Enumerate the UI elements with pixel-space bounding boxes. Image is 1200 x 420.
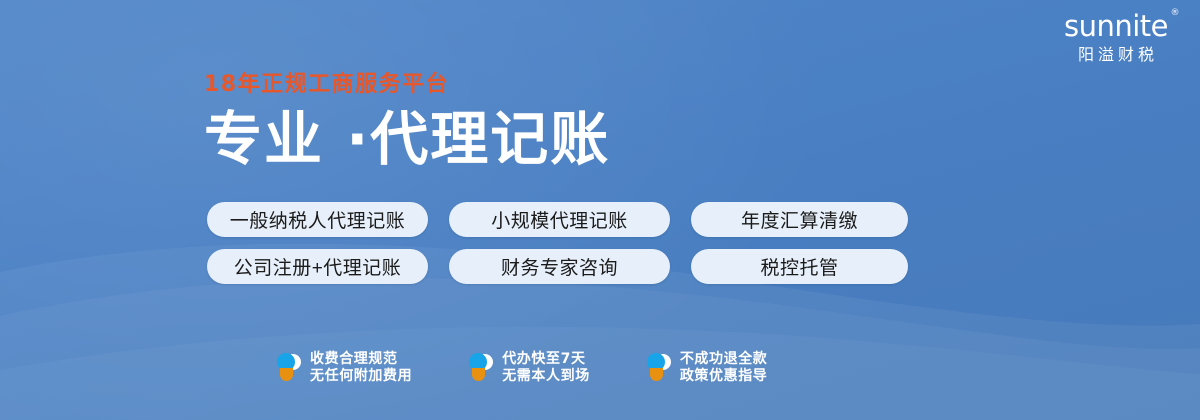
- feature-line-1: 收费合理规范: [310, 351, 398, 367]
- half-disc-shape: [472, 368, 485, 381]
- registered-trademark-icon: ®: [1171, 9, 1180, 18]
- service-tag[interactable]: 财务专家咨询: [449, 249, 670, 284]
- service-tag-grid: 一般纳税人代理记账 小规模代理记账 年度汇算清缴 公司注册+代理记账 财务专家咨…: [207, 202, 908, 284]
- feature-line-2: 无任何附加费用: [310, 368, 412, 384]
- feature-item: 收费合理规范 无任何附加费用: [276, 351, 412, 385]
- half-disc-shape: [280, 368, 293, 381]
- blue-orange-dot-icon: [468, 351, 493, 385]
- brand-logo[interactable]: sunnite ® 阳溢财税: [1046, 12, 1186, 64]
- feature-line-1: 不成功退全款: [680, 351, 768, 367]
- brand-logo-chinese-name: 阳溢财税: [1046, 48, 1186, 64]
- headline-eyebrow: 18年正规工商服务平台: [204, 74, 610, 96]
- feature-text: 收费合理规范 无任何附加费用: [310, 351, 412, 385]
- service-tag[interactable]: 年度汇算清缴: [691, 202, 908, 237]
- feature-item: 不成功退全款 政策优惠指导: [646, 351, 768, 385]
- feature-text: 不成功退全款 政策优惠指导: [680, 351, 768, 385]
- service-tag[interactable]: 一般纳税人代理记账: [207, 202, 428, 237]
- feature-item: 代办快至7天 无需本人到场: [468, 351, 590, 385]
- service-tag[interactable]: 税控托管: [691, 249, 908, 284]
- service-tag[interactable]: 公司注册+代理记账: [207, 249, 428, 284]
- feature-line-2: 无需本人到场: [502, 368, 590, 384]
- headline-title: 专业 ·代理记账: [204, 110, 610, 168]
- blue-orange-dot-icon: [276, 351, 301, 385]
- feature-line-2: 政策优惠指导: [680, 368, 768, 384]
- promo-banner: sunnite ® 阳溢财税 18年正规工商服务平台 专业 ·代理记账 一般纳税…: [0, 0, 1200, 420]
- half-disc-shape: [650, 368, 663, 381]
- feature-list: 收费合理规范 无任何附加费用 代办快至7天 无需本人到场 不成功退全款: [276, 351, 767, 385]
- blue-orange-dot-icon: [646, 351, 671, 385]
- brand-logo-text: sunnite: [1064, 9, 1168, 43]
- feature-line-1: 代办快至7天: [502, 351, 585, 367]
- feature-text: 代办快至7天 无需本人到场: [502, 351, 590, 385]
- service-tag[interactable]: 小规模代理记账: [449, 202, 670, 237]
- headline-block: 18年正规工商服务平台 专业 ·代理记账: [204, 74, 610, 168]
- brand-logo-wordmark: sunnite ®: [1064, 12, 1168, 41]
